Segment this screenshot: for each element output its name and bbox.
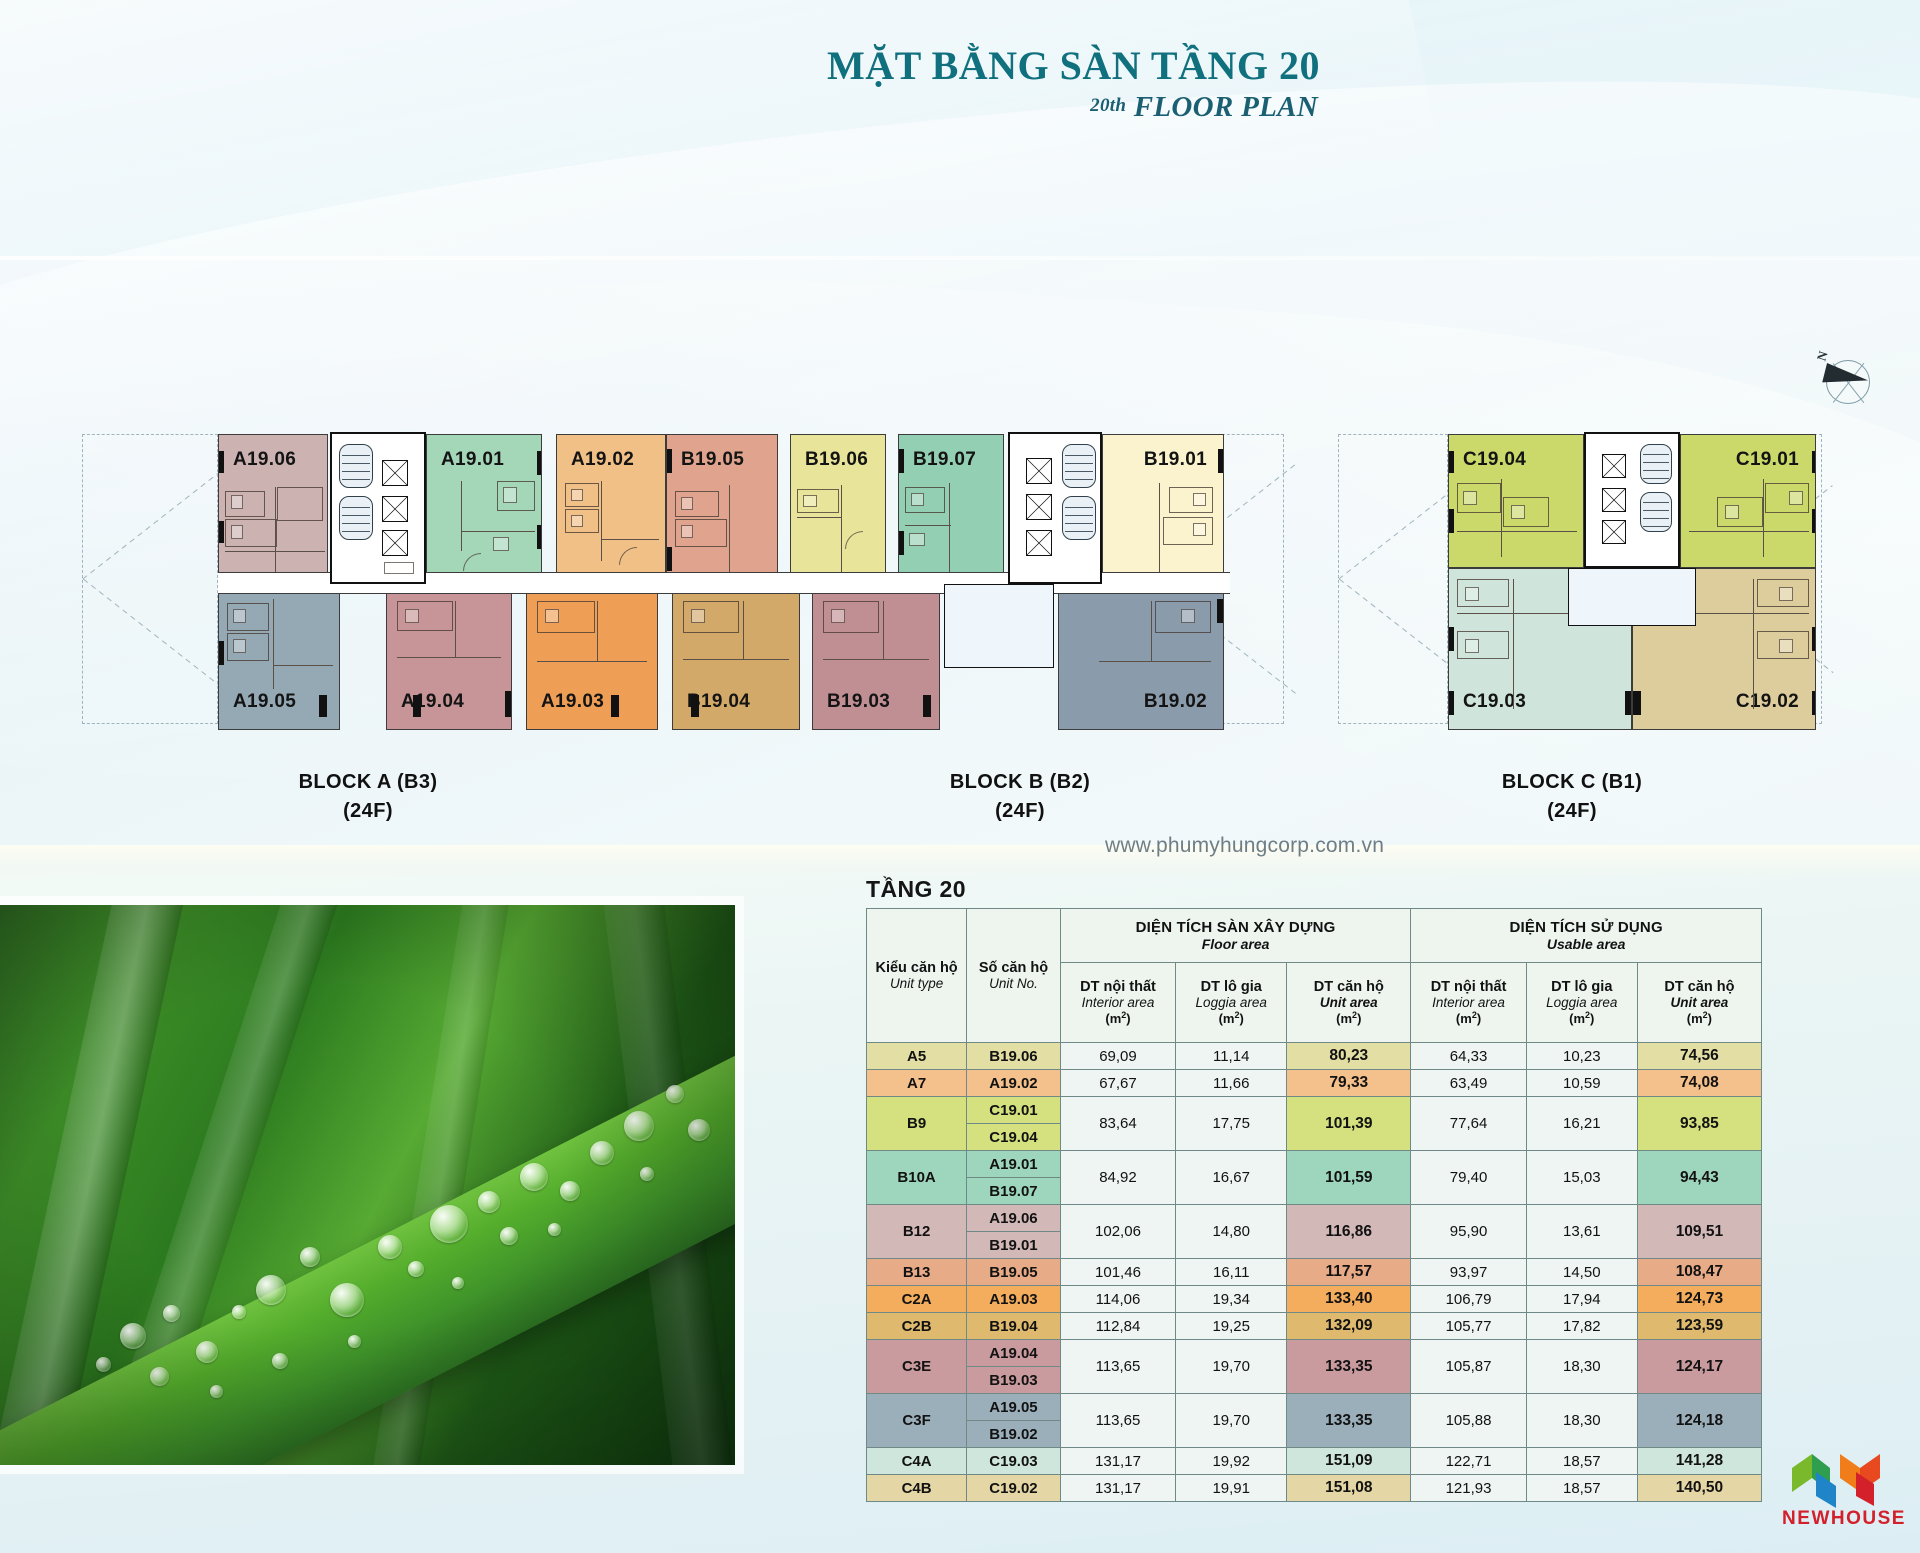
cell-usable-loggia: 17,94 <box>1526 1286 1637 1313</box>
structural-pier <box>1812 451 1816 473</box>
cell-floor-loggia: 11,14 <box>1176 1043 1287 1070</box>
cell-unit-no: A19.05 <box>967 1394 1061 1421</box>
cell-floor-interior: 131,17 <box>1060 1448 1175 1475</box>
structural-pier <box>218 641 224 665</box>
interior-wall <box>823 659 929 660</box>
cell-floor-loggia: 16,11 <box>1176 1259 1287 1286</box>
structural-pier <box>1448 509 1454 533</box>
cell-floor-interior: 101,46 <box>1060 1259 1175 1286</box>
interior-wall <box>1151 601 1152 661</box>
structural-pier <box>666 547 672 571</box>
room-outline <box>1169 487 1213 513</box>
lift-icon <box>382 496 408 522</box>
cell-unit-type: A5 <box>867 1043 967 1070</box>
cell-unit-no: A19.02 <box>967 1070 1061 1097</box>
cell-floor-unit: 132,09 <box>1287 1313 1411 1340</box>
table-row: A7A19.0267,6711,6679,3363,4910,5974,08 <box>867 1070 1762 1097</box>
fixture <box>681 525 693 538</box>
fixture <box>909 533 925 546</box>
cell-floor-loggia: 19,91 <box>1176 1475 1287 1502</box>
room-outline <box>1503 497 1549 527</box>
interior-wall <box>905 525 951 526</box>
site-url[interactable]: www.phumyhungcorp.com.vn <box>1105 834 1384 858</box>
newhouse-wordmark: NEWHOUSE <box>1782 1508 1906 1530</box>
fixture <box>233 609 246 623</box>
interior-wall <box>1763 479 1764 557</box>
page-header: MẶT BẰNG SÀN TẦNG 20 20th FLOOR PLAN <box>680 44 1320 124</box>
door-swing <box>619 547 637 565</box>
page-title-en: 20th FLOOR PLAN <box>680 91 1320 124</box>
interior-wall <box>273 665 333 666</box>
block-caption-b-line2: (24F) <box>910 797 1130 826</box>
cell-floor-interior: 69,09 <box>1060 1043 1175 1070</box>
cell-usable-loggia: 15,03 <box>1526 1151 1637 1205</box>
unit-label: B19.03 <box>827 691 890 713</box>
group-header-usable-area: DIỆN TÍCH SỬ DỤNG Usable area <box>1411 909 1762 963</box>
interior-wall <box>1501 479 1502 557</box>
structural-pier <box>218 521 224 543</box>
table-row: C4AC19.03131,1719,92151,09122,7118,57141… <box>867 1448 1762 1475</box>
lift-icon <box>382 530 408 556</box>
unit-B19.01[interactable]: B19.01 <box>1102 434 1224 582</box>
cell-floor-unit: 101,39 <box>1287 1097 1411 1151</box>
cell-floor-loggia: 19,70 <box>1176 1340 1287 1394</box>
decorative-photo-grass-dew <box>0 905 735 1465</box>
unit-label: A19.02 <box>571 449 634 471</box>
unit-label: B19.01 <box>1144 449 1207 471</box>
cell-unit-no: B19.05 <box>967 1259 1061 1286</box>
unit-B19.05[interactable]: B19.05 <box>666 434 778 582</box>
unit-label: A19.05 <box>233 691 296 713</box>
interior-wall <box>225 551 325 552</box>
unit-B19.07[interactable]: B19.07 <box>898 434 1004 582</box>
stair-icon <box>339 444 373 488</box>
fixture <box>681 497 693 510</box>
interior-wall <box>1099 661 1211 662</box>
room-outline <box>1717 497 1763 527</box>
cell-unit-no: B19.04 <box>967 1313 1061 1340</box>
core-lift-lobby-c <box>1584 432 1680 568</box>
col-usable-interior: DT nội thất Interior area (m2) <box>1411 963 1526 1043</box>
unit-C19.04[interactable]: C19.04 <box>1448 434 1584 568</box>
structural-pier <box>413 695 421 717</box>
table-row: C3FA19.05113,6519,70133,35105,8818,30124… <box>867 1394 1762 1421</box>
structural-pier <box>1625 691 1632 715</box>
cell-usable-interior: 95,90 <box>1411 1205 1526 1259</box>
structural-pier <box>218 451 224 473</box>
cell-usable-interior: 93,97 <box>1411 1259 1526 1286</box>
fixture <box>1511 505 1525 519</box>
cell-floor-unit: 151,09 <box>1287 1448 1411 1475</box>
fixture <box>231 495 243 509</box>
structural-pier <box>1448 627 1454 651</box>
cell-usable-loggia: 18,30 <box>1526 1394 1637 1448</box>
cell-usable-interior: 121,93 <box>1411 1475 1526 1502</box>
fixture <box>1193 523 1206 536</box>
cell-usable-interior: 77,64 <box>1411 1097 1526 1151</box>
structural-pier <box>537 451 542 475</box>
table-row: B9C19.0183,6417,75101,3977,6416,2193,85 <box>867 1097 1762 1124</box>
unit-m2: (m2) <box>1641 1010 1758 1026</box>
cell-floor-interior: 84,92 <box>1060 1151 1175 1205</box>
structural-pier <box>1448 691 1454 715</box>
col-usable-unit: DT căn hộ Unit area (m2) <box>1637 963 1761 1043</box>
structural-pier <box>505 691 512 717</box>
unit-label: C19.04 <box>1463 449 1526 471</box>
table-row: C2AA19.03114,0619,34133,40106,7917,94124… <box>867 1286 1762 1313</box>
fixture <box>1725 505 1739 519</box>
interior-wall <box>461 531 535 532</box>
cell-unit-no: C19.01 <box>967 1097 1061 1124</box>
cell-usable-interior: 122,71 <box>1411 1448 1526 1475</box>
unit-label: A19.04 <box>401 691 464 713</box>
cell-floor-interior: 102,06 <box>1060 1205 1175 1259</box>
fixture <box>803 495 817 507</box>
fixture <box>1465 639 1479 653</box>
fixture <box>1779 639 1793 653</box>
fixture <box>1463 491 1477 505</box>
table-title: TẦNG 20 <box>866 876 966 903</box>
cell-unit-type: C2A <box>867 1286 967 1313</box>
unit-area-table: Kiểu căn hộ Unit type Số căn hộ Unit No.… <box>866 908 1762 1502</box>
block-c-plan: C19.04 C19.01 <box>1338 420 1828 740</box>
cell-floor-loggia: 19,25 <box>1176 1313 1287 1340</box>
table-row: B12A19.06102,0614,80116,8695,9013,61109,… <box>867 1205 1762 1232</box>
stair-icon <box>1640 492 1672 532</box>
unit-m2: (m2) <box>1064 1010 1172 1026</box>
fixture <box>571 489 583 501</box>
unit-label: A19.06 <box>233 449 296 471</box>
interior-wall <box>275 487 276 582</box>
stair-icon <box>339 496 373 540</box>
interior-wall <box>883 601 884 659</box>
lift-icon <box>1026 494 1052 520</box>
cell-usable-loggia: 14,50 <box>1526 1259 1637 1286</box>
structural-pier <box>898 449 904 473</box>
structural-pier <box>1812 691 1816 715</box>
structural-pier <box>1812 509 1816 533</box>
door-swing <box>463 553 481 571</box>
cell-unit-no: A19.04 <box>967 1340 1061 1367</box>
page-title-en-sup: 20th <box>1090 95 1126 116</box>
fixture <box>1181 609 1195 623</box>
corridor-bar-a <box>218 572 674 594</box>
cell-usable-loggia: 18,57 <box>1526 1475 1637 1502</box>
photo-vignette <box>0 905 735 1465</box>
cell-floor-unit: 116,86 <box>1287 1205 1411 1259</box>
cell-unit-type: C2B <box>867 1313 967 1340</box>
unit-label: B19.06 <box>805 449 868 471</box>
floor-plan-area: A19.06 A19.01 <box>0 420 1920 820</box>
fixture <box>231 525 243 539</box>
cell-unit-type: C3F <box>867 1394 967 1448</box>
col-unit-type: Kiểu căn hộ Unit type <box>867 909 967 1043</box>
interior-wall <box>455 601 456 657</box>
cell-usable-interior: 64,33 <box>1411 1043 1526 1070</box>
lift-icon <box>1026 530 1052 556</box>
block-caption-b: BLOCK B (B2) (24F) <box>910 768 1130 826</box>
cell-floor-interior: 114,06 <box>1060 1286 1175 1313</box>
lift-icon <box>1026 458 1052 484</box>
structural-pier <box>898 531 904 555</box>
fixture <box>1193 493 1206 506</box>
cell-floor-loggia: 11,66 <box>1176 1070 1287 1097</box>
cell-unit-type: B12 <box>867 1205 967 1259</box>
lift-icon <box>382 460 408 486</box>
lobby-void-c <box>1568 568 1696 626</box>
cell-floor-loggia: 16,67 <box>1176 1151 1287 1205</box>
structural-pier <box>319 695 327 717</box>
cell-unit-type: C4A <box>867 1448 967 1475</box>
cell-floor-interior: 112,84 <box>1060 1313 1175 1340</box>
fixture <box>1789 491 1803 505</box>
cell-floor-unit: 80,23 <box>1287 1043 1411 1070</box>
interior-wall <box>273 599 274 689</box>
unit-label: A19.03 <box>541 691 604 713</box>
interior-wall <box>1513 579 1514 709</box>
structural-pier <box>691 695 699 717</box>
core-lift-lobby-b <box>1008 432 1102 584</box>
unit-label: B19.07 <box>913 449 976 471</box>
interior-wall <box>683 659 789 660</box>
fixture <box>384 562 414 574</box>
cell-usable-unit: 124,17 <box>1637 1340 1761 1394</box>
unit-m2: (m2) <box>1414 1010 1522 1026</box>
interior-wall <box>1753 579 1754 709</box>
cell-unit-no: C19.02 <box>967 1475 1061 1502</box>
fixture <box>1779 587 1793 601</box>
cell-usable-interior: 79,40 <box>1411 1151 1526 1205</box>
cell-unit-no: A19.06 <box>967 1205 1061 1232</box>
cell-floor-loggia: 17,75 <box>1176 1097 1287 1151</box>
group-header-floor-area: DIỆN TÍCH SÀN XÂY DỰNG Floor area <box>1060 909 1411 963</box>
interior-wall <box>1159 483 1160 579</box>
structural-pier <box>1633 691 1641 715</box>
unit-m2: (m2) <box>1179 1010 1283 1026</box>
cell-usable-unit: 124,18 <box>1637 1394 1761 1448</box>
table-row: C2BB19.04112,8419,25132,09105,7717,82123… <box>867 1313 1762 1340</box>
cell-usable-interior: 105,87 <box>1411 1340 1526 1394</box>
page-title-vn: MẶT BẰNG SÀN TẦNG 20 <box>680 44 1320 87</box>
lift-icon <box>1602 454 1626 478</box>
interior-wall <box>537 661 647 662</box>
structural-pier <box>537 525 542 549</box>
col-floor-unit: DT căn hộ Unit area (m2) <box>1287 963 1411 1043</box>
cell-unit-no: B19.06 <box>967 1043 1061 1070</box>
col-floor-loggia: DT lô gia Loggia area (m2) <box>1176 963 1287 1043</box>
cell-usable-loggia: 18,57 <box>1526 1448 1637 1475</box>
cell-unit-no: A19.03 <box>967 1286 1061 1313</box>
unit-label: B19.02 <box>1144 691 1207 713</box>
unit-A19.06[interactable]: A19.06 <box>218 434 328 582</box>
door-swing <box>845 531 863 549</box>
structural-pier <box>1812 627 1816 651</box>
cell-floor-interior: 113,65 <box>1060 1394 1175 1448</box>
interior-wall <box>601 539 659 540</box>
cell-floor-unit: 133,35 <box>1287 1340 1411 1394</box>
interior-wall <box>797 517 841 518</box>
block-caption-c-line1: BLOCK C (B1) <box>1462 768 1682 797</box>
fixture <box>831 609 845 623</box>
cell-usable-interior: 106,79 <box>1411 1286 1526 1313</box>
col-usable-loggia: DT lô gia Loggia area (m2) <box>1526 963 1637 1043</box>
unit-A19.01[interactable]: A19.01 <box>426 434 542 582</box>
cell-floor-loggia: 19,92 <box>1176 1448 1287 1475</box>
fixture <box>233 639 246 653</box>
cell-usable-loggia: 10,23 <box>1526 1043 1637 1070</box>
unit-A19.03[interactable]: A19.03 <box>526 582 658 730</box>
table-row: A5B19.0669,0911,1480,2364,3310,2374,56 <box>867 1043 1762 1070</box>
cell-usable-unit: 140,50 <box>1637 1475 1761 1502</box>
lift-icon <box>1602 488 1626 512</box>
block-caption-c-line2: (24F) <box>1462 797 1682 826</box>
cell-floor-unit: 79,33 <box>1287 1070 1411 1097</box>
cell-usable-loggia: 13,61 <box>1526 1205 1637 1259</box>
unit-B19.03[interactable]: B19.03 <box>812 582 940 730</box>
interior-wall <box>597 601 598 661</box>
interior-wall <box>729 485 730 577</box>
interior-wall <box>1457 531 1577 532</box>
block-caption-c: BLOCK C (B1) (24F) <box>1462 768 1682 826</box>
interior-wall <box>743 601 744 659</box>
cell-unit-no: B19.07 <box>967 1178 1061 1205</box>
stair-icon <box>1640 444 1672 484</box>
cell-usable-interior: 63,49 <box>1411 1070 1526 1097</box>
cell-usable-unit: 93,85 <box>1637 1097 1761 1151</box>
cell-usable-unit: 94,43 <box>1637 1151 1761 1205</box>
cell-floor-loggia: 19,34 <box>1176 1286 1287 1313</box>
cell-usable-unit: 108,47 <box>1637 1259 1761 1286</box>
unit-B19.02[interactable]: B19.02 <box>1058 582 1224 730</box>
cell-usable-loggia: 16,21 <box>1526 1097 1637 1151</box>
unit-label: A19.01 <box>441 449 504 471</box>
newhouse-logo[interactable]: NEWHOUSE <box>1782 1452 1906 1536</box>
cell-unit-type: C4B <box>867 1475 967 1502</box>
cell-unit-type: B13 <box>867 1259 967 1286</box>
compass-north-icon: N <box>1818 352 1880 414</box>
table-head: Kiểu căn hộ Unit type Số căn hộ Unit No.… <box>867 909 1762 1043</box>
cell-floor-unit: 101,59 <box>1287 1151 1411 1205</box>
cell-floor-unit: 117,57 <box>1287 1259 1411 1286</box>
cell-unit-type: B9 <box>867 1097 967 1151</box>
interior-wall <box>1457 613 1577 614</box>
cell-usable-unit: 74,08 <box>1637 1070 1761 1097</box>
table-row: B10AA19.0184,9216,67101,5979,4015,0394,4… <box>867 1151 1762 1178</box>
page-title-en-text: FLOOR PLAN <box>1134 91 1318 123</box>
unit-A19.02[interactable]: A19.02 <box>556 434 666 582</box>
cell-unit-no: B19.01 <box>967 1232 1061 1259</box>
table-row: C4BC19.02131,1719,91151,08121,9318,57140… <box>867 1475 1762 1502</box>
structural-pier <box>611 695 619 717</box>
block-caption-a-line2: (24F) <box>258 797 478 826</box>
cell-usable-interior: 105,88 <box>1411 1394 1526 1448</box>
newhouse-mark-icon <box>1782 1452 1906 1508</box>
cell-floor-unit: 133,35 <box>1287 1394 1411 1448</box>
cell-usable-loggia: 17,82 <box>1526 1313 1637 1340</box>
cell-usable-unit: 124,73 <box>1637 1286 1761 1313</box>
cell-usable-loggia: 18,30 <box>1526 1340 1637 1394</box>
cell-unit-no: B19.03 <box>967 1367 1061 1394</box>
unit-label: B19.05 <box>681 449 744 471</box>
interior-wall <box>1689 531 1809 532</box>
structural-pier <box>666 449 672 473</box>
cell-usable-interior: 105,77 <box>1411 1313 1526 1340</box>
fixture <box>571 515 583 527</box>
lift-icon <box>1602 520 1626 544</box>
block-ab-plan: A19.06 A19.01 <box>0 420 1180 740</box>
stair-icon <box>1062 496 1096 540</box>
structural-pier <box>1218 449 1224 473</box>
fixture <box>493 537 509 551</box>
cell-unit-no: C19.03 <box>967 1448 1061 1475</box>
cell-floor-loggia: 14,80 <box>1176 1205 1287 1259</box>
unit-B19.04[interactable]: B19.04 <box>672 582 800 730</box>
unit-A19.05[interactable]: A19.05 <box>218 582 340 730</box>
table-row: B13B19.05101,4616,11117,5793,9714,50108,… <box>867 1259 1762 1286</box>
unit-B19.06[interactable]: B19.06 <box>790 434 886 582</box>
unit-label: C19.02 <box>1736 691 1799 713</box>
interior-wall <box>461 481 462 551</box>
cell-unit-no: B19.02 <box>967 1421 1061 1448</box>
room-outline <box>277 487 323 521</box>
cell-floor-unit: 133,40 <box>1287 1286 1411 1313</box>
unit-label: C19.01 <box>1736 449 1799 471</box>
cell-floor-unit: 151,08 <box>1287 1475 1411 1502</box>
fixture <box>503 487 517 503</box>
cell-unit-type: B10A <box>867 1151 967 1205</box>
unit-label: C19.03 <box>1463 691 1526 713</box>
structural-pier <box>1217 599 1224 623</box>
interior-wall <box>949 483 950 577</box>
fixture <box>545 609 559 623</box>
stair-icon <box>1062 444 1096 488</box>
core-lift-lobby-a <box>330 432 426 584</box>
fixture <box>911 493 924 506</box>
cell-unit-type: C3E <box>867 1340 967 1394</box>
col-floor-interior: DT nội thất Interior area (m2) <box>1060 963 1175 1043</box>
col-unit-no: Số căn hộ Unit No. <box>967 909 1061 1043</box>
unit-m2: (m2) <box>1290 1010 1407 1026</box>
cell-floor-loggia: 19,70 <box>1176 1394 1287 1448</box>
cell-unit-no: C19.04 <box>967 1124 1061 1151</box>
cell-floor-interior: 113,65 <box>1060 1340 1175 1394</box>
cell-usable-unit: 141,28 <box>1637 1448 1761 1475</box>
interior-wall <box>841 485 842 577</box>
cell-usable-unit: 123,59 <box>1637 1313 1761 1340</box>
cell-usable-unit: 74,56 <box>1637 1043 1761 1070</box>
cell-unit-type: A7 <box>867 1070 967 1097</box>
cell-floor-interior: 131,17 <box>1060 1475 1175 1502</box>
cell-floor-interior: 83,64 <box>1060 1097 1175 1151</box>
table-header-row-1: Kiểu căn hộ Unit type Số căn hộ Unit No.… <box>867 909 1762 963</box>
cell-usable-loggia: 10,59 <box>1526 1070 1637 1097</box>
interior-wall <box>1689 613 1809 614</box>
block-caption-b-line1: BLOCK B (B2) <box>910 768 1130 797</box>
unit-C19.01[interactable]: C19.01 <box>1680 434 1816 568</box>
interior-wall <box>601 481 602 561</box>
cell-floor-interior: 67,67 <box>1060 1070 1175 1097</box>
fixture <box>405 609 419 623</box>
unit-m2: (m2) <box>1530 1010 1634 1026</box>
cell-unit-no: A19.01 <box>967 1151 1061 1178</box>
structural-pier <box>923 695 931 717</box>
unit-A19.04[interactable]: A19.04 <box>386 582 512 730</box>
table-row: C3EA19.04113,6519,70133,35105,8718,30124… <box>867 1340 1762 1367</box>
structural-pier <box>1448 451 1454 473</box>
fixture <box>1465 587 1479 601</box>
fixture <box>691 609 705 623</box>
lobby-void-b <box>944 584 1054 668</box>
